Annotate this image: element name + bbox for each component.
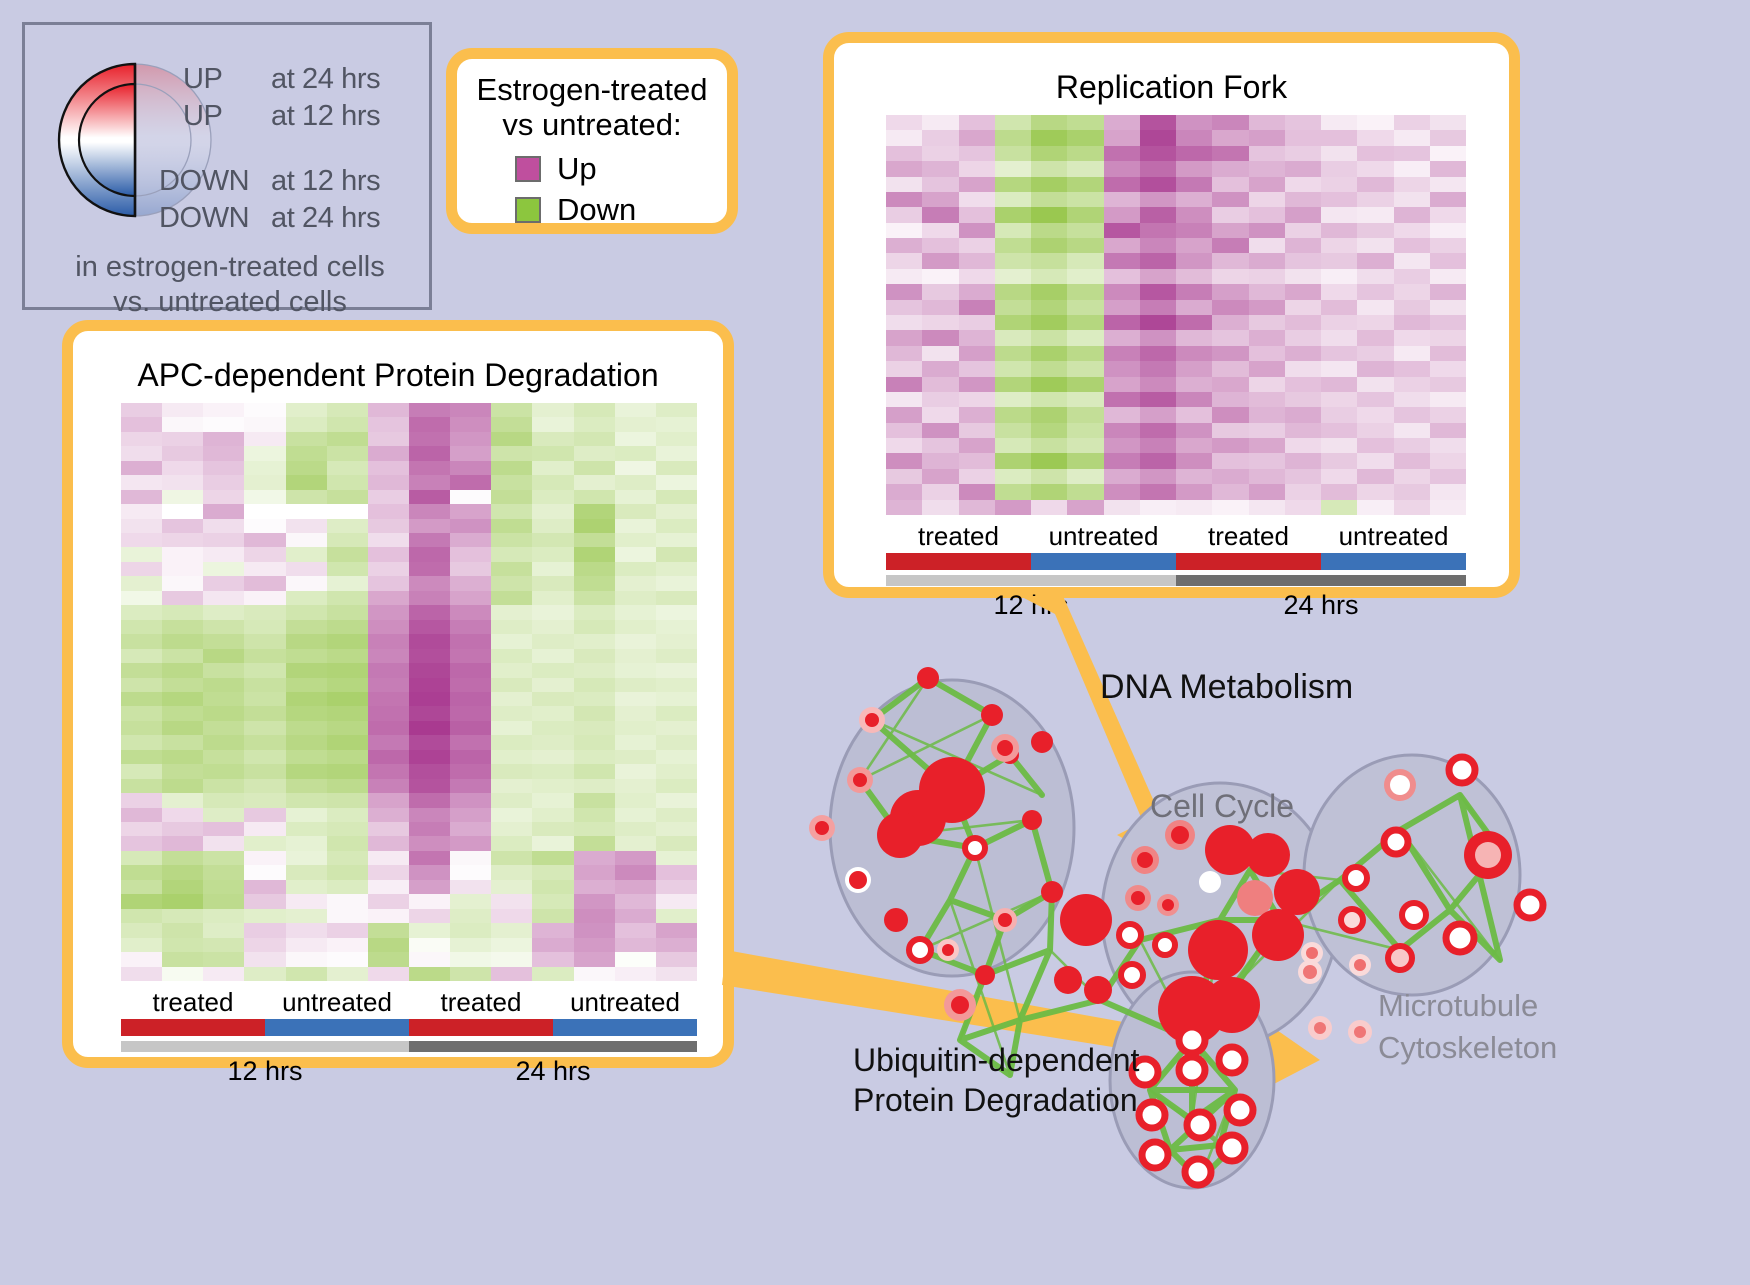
heatmap-cell: [162, 967, 203, 981]
heatmap-cell: [203, 576, 244, 590]
heatmap-cell: [368, 851, 409, 865]
heatmap-cell: [244, 938, 285, 952]
heatmap-cell: [532, 403, 573, 417]
heatmap-cell: [1104, 223, 1140, 238]
heatmap-cell: [491, 692, 532, 706]
heatmap-cell: [995, 130, 1031, 145]
heatmap-cell: [244, 822, 285, 836]
heatmap-cell: [244, 779, 285, 793]
heatmap-cell: [656, 706, 697, 720]
heatmap-cell: [1321, 146, 1357, 161]
apc-sample-1: untreated: [265, 987, 409, 1017]
heatmap-cell: [959, 315, 995, 330]
heatmap-cell: [203, 591, 244, 605]
heatmap-cell: [1031, 192, 1067, 207]
heatmap-cell: [1430, 130, 1466, 145]
network-node-core: [1137, 852, 1153, 868]
heatmap-cell: [327, 446, 368, 460]
heatmap-cell: [1285, 284, 1321, 299]
heatmap-cell: [244, 605, 285, 619]
key-label-down-12: DOWN: [159, 165, 249, 198]
heatmap-cell: [615, 403, 656, 417]
heatmap-cell: [368, 417, 409, 431]
heatmap-cell: [450, 735, 491, 749]
heatmap-cell: [574, 663, 615, 677]
heatmap-cell: [532, 533, 573, 547]
heatmap-cell: [1212, 377, 1248, 392]
heatmap-cell: [162, 649, 203, 663]
heatmap-cell: [1104, 377, 1140, 392]
heatmap-cell: [450, 822, 491, 836]
heatmap-cell: [1031, 223, 1067, 238]
replication-fork-heatmap: [886, 115, 1466, 515]
heatmap-cell: [491, 620, 532, 634]
heatmap-cell: [1031, 146, 1067, 161]
heatmap-cell: [162, 678, 203, 692]
heatmap-cell: [121, 822, 162, 836]
heatmap-cell: [532, 952, 573, 966]
heatmap-cell: [1321, 500, 1357, 515]
heatmap-cell: [409, 591, 450, 605]
network-node: [1022, 810, 1042, 830]
heatmap-cell: [1394, 269, 1430, 284]
network-node: [1449, 757, 1475, 783]
heatmap-cell: [886, 238, 922, 253]
heatmap-cell: [959, 423, 995, 438]
heatmap-cell: [1140, 177, 1176, 192]
heatmap-cell: [532, 808, 573, 822]
heatmap-cell: [1249, 453, 1285, 468]
heatmap-cell: [1031, 161, 1067, 176]
heatmap-cell: [886, 453, 922, 468]
network-node: [1345, 867, 1367, 889]
heatmap-cell: [368, 432, 409, 446]
heatmap-cell: [1285, 484, 1321, 499]
heatmap-cell: [959, 223, 995, 238]
heatmap-cell: [1212, 361, 1248, 376]
network-node: [1084, 976, 1112, 1004]
heatmap-cell: [327, 663, 368, 677]
heatmap-cell: [574, 967, 615, 981]
heatmap-cell: [615, 576, 656, 590]
heatmap-cell: [532, 836, 573, 850]
replication-fork-title: Replication Fork: [834, 69, 1509, 106]
heatmap-cell: [286, 490, 327, 504]
heatmap-cell: [1430, 392, 1466, 407]
heatmap-cell: [574, 894, 615, 908]
heatmap-cell: [203, 851, 244, 865]
heatmap-cell: [450, 417, 491, 431]
heatmap-cell: [574, 735, 615, 749]
heatmap-cell: [327, 851, 368, 865]
heatmap-cell: [121, 649, 162, 663]
heatmap-cell: [1067, 361, 1103, 376]
heatmap-cell: [1104, 361, 1140, 376]
heatmap-cell: [886, 223, 922, 238]
network-node-core: [1171, 826, 1189, 844]
heatmap-cell: [1176, 253, 1212, 268]
heatmap-cell: [615, 735, 656, 749]
heatmap-cell: [959, 377, 995, 392]
heatmap-cell: [450, 706, 491, 720]
heatmap-cell: [995, 330, 1031, 345]
heatmap-cell: [244, 446, 285, 460]
heatmap-cell: [959, 330, 995, 345]
heatmap-cell: [286, 923, 327, 937]
heatmap-cell: [922, 315, 958, 330]
heatmap-cell: [1357, 161, 1393, 176]
heatmap-cell: [532, 764, 573, 778]
heatmap-cell: [244, 793, 285, 807]
apc-title: APC-dependent Protein Degradation: [73, 357, 723, 394]
heatmap-cell: [959, 361, 995, 376]
heatmap-cell: [995, 361, 1031, 376]
heatmap-cell: [922, 146, 958, 161]
heatmap-cell: [409, 938, 450, 952]
heatmap-cell: [368, 605, 409, 619]
heatmap-cell: [286, 605, 327, 619]
heatmap-cell: [615, 967, 656, 981]
key-label-up-24: UP: [183, 63, 223, 96]
heatmap-cell: [286, 678, 327, 692]
heatmap-cell: [1285, 423, 1321, 438]
heatmap-cell: [615, 894, 656, 908]
heatmap-cell: [1357, 438, 1393, 453]
heatmap-cell: [656, 952, 697, 966]
heatmap-cell: [368, 562, 409, 576]
rf-time-labels: 12 hrs 24 hrs: [886, 587, 1466, 623]
heatmap-cell: [574, 504, 615, 518]
network-svg: [800, 620, 1560, 1280]
heatmap-cell: [1140, 377, 1176, 392]
heatmap-cell: [922, 207, 958, 222]
heatmap-cell: [1285, 146, 1321, 161]
heatmap-cell: [1176, 500, 1212, 515]
apc-time-label-24: 24 hrs: [409, 1053, 697, 1089]
heatmap-cell: [121, 605, 162, 619]
heatmap-cell: [656, 865, 697, 879]
heatmap-cell: [532, 490, 573, 504]
heatmap-cell: [327, 634, 368, 648]
heatmap-cell: [409, 706, 450, 720]
heatmap-cell: [409, 562, 450, 576]
heatmap-cell: [1031, 407, 1067, 422]
heatmap-cell: [162, 432, 203, 446]
heatmap-cell: [615, 490, 656, 504]
apc-time-bar: [121, 1041, 697, 1052]
heatmap-cell: [995, 484, 1031, 499]
heatmap-cell: [368, 880, 409, 894]
heatmap-cell: [574, 490, 615, 504]
heatmap-cell: [1249, 469, 1285, 484]
heatmap-cell: [327, 735, 368, 749]
heatmap-cell: [615, 851, 656, 865]
heatmap-cell: [286, 808, 327, 822]
heatmap-cell: [1212, 423, 1248, 438]
heatmap-cell: [959, 500, 995, 515]
heatmap-cell: [656, 519, 697, 533]
heatmap-cell: [327, 576, 368, 590]
network-node: [1252, 909, 1304, 961]
heatmap-cell: [450, 894, 491, 908]
heatmap-cell: [615, 504, 656, 518]
heatmap-cell: [1031, 330, 1067, 345]
network-node-core: [1303, 965, 1317, 979]
rf-treatbar-2: [1176, 553, 1321, 570]
heatmap-cell: [1067, 423, 1103, 438]
heatmap-cell: [574, 750, 615, 764]
heatmap-cell: [995, 469, 1031, 484]
heatmap-cell: [1104, 207, 1140, 222]
heatmap-cell: [1430, 500, 1466, 515]
heatmap-cell: [1140, 407, 1176, 422]
heatmap-cell: [121, 591, 162, 605]
heatmap-cell: [203, 461, 244, 475]
heatmap-cell: [409, 461, 450, 475]
heatmap-cell: [327, 620, 368, 634]
heatmap-cell: [615, 822, 656, 836]
heatmap-cell: [450, 533, 491, 547]
network-node-core: [951, 996, 969, 1014]
network-node: [1188, 920, 1248, 980]
heatmap-cell: [491, 403, 532, 417]
heatmap-cell: [1067, 330, 1103, 345]
heatmap-cell: [409, 678, 450, 692]
heatmap-cell: [615, 706, 656, 720]
heatmap-cell: [368, 909, 409, 923]
heatmap-cell: [368, 519, 409, 533]
heatmap-cell: [409, 851, 450, 865]
heatmap-cell: [1357, 346, 1393, 361]
heatmap-cell: [286, 504, 327, 518]
network-node: [1179, 1057, 1205, 1083]
heatmap-cell: [1430, 361, 1466, 376]
heatmap-cell: [1357, 223, 1393, 238]
heatmap-cell: [574, 779, 615, 793]
heatmap-cell: [615, 692, 656, 706]
heatmap-cell: [574, 764, 615, 778]
heatmap-cell: [491, 923, 532, 937]
heatmap-cell: [1430, 177, 1466, 192]
heatmap-cell: [1430, 269, 1466, 284]
heatmap-cell: [1249, 300, 1285, 315]
heatmap-cell: [995, 300, 1031, 315]
heatmap-cell: [491, 649, 532, 663]
heatmap-cell: [244, 620, 285, 634]
heatmap-cell: [327, 706, 368, 720]
heatmap-cell: [656, 764, 697, 778]
heatmap-cell: [244, 403, 285, 417]
heatmap-cell: [203, 721, 244, 735]
heatmap-cell: [959, 146, 995, 161]
heatmap-cell: [368, 692, 409, 706]
heatmap-cell: [656, 446, 697, 460]
heatmap-cell: [244, 692, 285, 706]
heatmap-cell: [1140, 284, 1176, 299]
heatmap-cell: [491, 533, 532, 547]
heatmap-cell: [1285, 192, 1321, 207]
heatmap-cell: [162, 475, 203, 489]
heatmap-cell: [615, 865, 656, 879]
heatmap-cell: [995, 377, 1031, 392]
heatmap-cell: [886, 330, 922, 345]
heatmap-cell: [203, 735, 244, 749]
heatmap-cell: [1140, 315, 1176, 330]
heatmap-cell: [656, 605, 697, 619]
heatmap-cell: [1176, 377, 1212, 392]
heatmap-cell: [1285, 392, 1321, 407]
heatmap-cell: [615, 547, 656, 561]
heatmap-cell: [244, 519, 285, 533]
network-node-core: [1390, 775, 1410, 795]
heatmap-cell: [574, 417, 615, 431]
heatmap-cell: [162, 519, 203, 533]
heatmap-cell: [121, 836, 162, 850]
network-node: [1402, 903, 1426, 927]
heatmap-cell: [244, 547, 285, 561]
heatmap-cell: [203, 432, 244, 446]
heatmap-cell: [450, 490, 491, 504]
heatmap-cell: [162, 634, 203, 648]
heatmap-cell: [162, 750, 203, 764]
heatmap-cell: [286, 750, 327, 764]
heatmap-cell: [886, 207, 922, 222]
heatmap-cell: [1430, 284, 1466, 299]
heatmap-cell: [1067, 453, 1103, 468]
heatmap-cell: [532, 923, 573, 937]
heatmap-cell: [656, 938, 697, 952]
heatmap-cell: [409, 735, 450, 749]
heatmap-cell: [1430, 207, 1466, 222]
heatmap-cell: [1249, 253, 1285, 268]
heatmap-cell: [656, 620, 697, 634]
heatmap-cell: [532, 938, 573, 952]
heatmap-cell: [574, 836, 615, 850]
heatmap-cell: [203, 923, 244, 937]
heatmap-cell: [286, 446, 327, 460]
heatmap-cell: [1249, 500, 1285, 515]
heatmap-cell: [491, 880, 532, 894]
heatmap-cell: [1140, 453, 1176, 468]
heatmap-cell: [959, 469, 995, 484]
heatmap-cell: [656, 692, 697, 706]
heatmap-cell: [162, 779, 203, 793]
heatmap-cell: [203, 938, 244, 952]
network-node: [1185, 1159, 1211, 1185]
heatmap-cell: [995, 238, 1031, 253]
network-node: [1119, 924, 1141, 946]
heatmap-cell: [409, 504, 450, 518]
heatmap-cell: [450, 519, 491, 533]
rf-treatbar-1: [1031, 553, 1176, 570]
heatmap-cell: [286, 620, 327, 634]
heatmap-cell: [995, 161, 1031, 176]
heatmap-cell: [1285, 115, 1321, 130]
rf-timebar-12: [886, 575, 1176, 586]
heatmap-cell: [244, 706, 285, 720]
heatmap-cell: [121, 952, 162, 966]
heatmap-cell: [409, 634, 450, 648]
network-label-microtubule: Microtubule: [1378, 988, 1538, 1024]
network-node-core: [853, 773, 867, 787]
heatmap-cell: [1357, 453, 1393, 468]
heatmap-cell: [1031, 346, 1067, 361]
network-node: [1219, 1047, 1245, 1073]
heatmap-cell: [574, 547, 615, 561]
heatmap-cell: [532, 634, 573, 648]
heatmap-cell: [491, 865, 532, 879]
heatmap-cell: [532, 547, 573, 561]
heatmap-cell: [886, 377, 922, 392]
heatmap-cell: [1357, 130, 1393, 145]
heatmap-cell: [162, 822, 203, 836]
heatmap-cell: [491, 822, 532, 836]
heatmap-cell: [886, 407, 922, 422]
heatmap-cell: [1067, 438, 1103, 453]
heatmap-cell: [244, 475, 285, 489]
heatmap-cell: [959, 438, 995, 453]
network-node: [1187, 1112, 1213, 1138]
heatmap-cell: [327, 894, 368, 908]
heatmap-cell: [1067, 469, 1103, 484]
heatmap-cell: [532, 649, 573, 663]
heatmap-cell: [574, 865, 615, 879]
heatmap-cell: [409, 822, 450, 836]
rf-sample-2: treated: [1176, 521, 1321, 551]
apc-sample-2: treated: [409, 987, 553, 1017]
heatmap-cell: [1031, 300, 1067, 315]
heatmap-cell: [1176, 315, 1212, 330]
heatmap-cell: [1249, 192, 1285, 207]
heatmap-cell: [1140, 500, 1176, 515]
rf-treatment-bar: [886, 553, 1466, 570]
heatmap-cell: [1140, 161, 1176, 176]
heatmap-cell: [327, 547, 368, 561]
heatmap-cell: [1321, 223, 1357, 238]
heatmap-cell: [615, 880, 656, 894]
heatmap-cell: [1285, 238, 1321, 253]
heatmap-cell: [450, 403, 491, 417]
heatmap-cell: [656, 836, 697, 850]
heatmap-cell: [162, 793, 203, 807]
heatmap-cell: [368, 822, 409, 836]
heatmap-cell: [656, 721, 697, 735]
heatmap-cell: [922, 407, 958, 422]
heatmap-cell: [327, 779, 368, 793]
heatmap-cell: [959, 115, 995, 130]
heatmap-cell: [886, 392, 922, 407]
network-node: [965, 838, 985, 858]
heatmap-cell: [1285, 500, 1321, 515]
heatmap-cell: [615, 562, 656, 576]
heatmap-cell: [1140, 438, 1176, 453]
heatmap-cell: [532, 591, 573, 605]
key-time-up-12: at 12 hrs: [271, 100, 380, 133]
heatmap-cell: [162, 938, 203, 952]
heatmap-cell: [1031, 361, 1067, 376]
heatmap-cell: [615, 721, 656, 735]
panel-replication-fork: Replication Fork treated untreated treat…: [823, 32, 1520, 598]
heatmap-cell: [286, 822, 327, 836]
heatmap-cell: [286, 967, 327, 981]
heatmap-cell: [922, 438, 958, 453]
heatmap-cell: [1430, 423, 1466, 438]
heatmap-cell: [959, 269, 995, 284]
heatmap-cell: [656, 562, 697, 576]
heatmap-cell: [409, 909, 450, 923]
heatmap-cell: [1249, 238, 1285, 253]
heatmap-cell: [1285, 161, 1321, 176]
